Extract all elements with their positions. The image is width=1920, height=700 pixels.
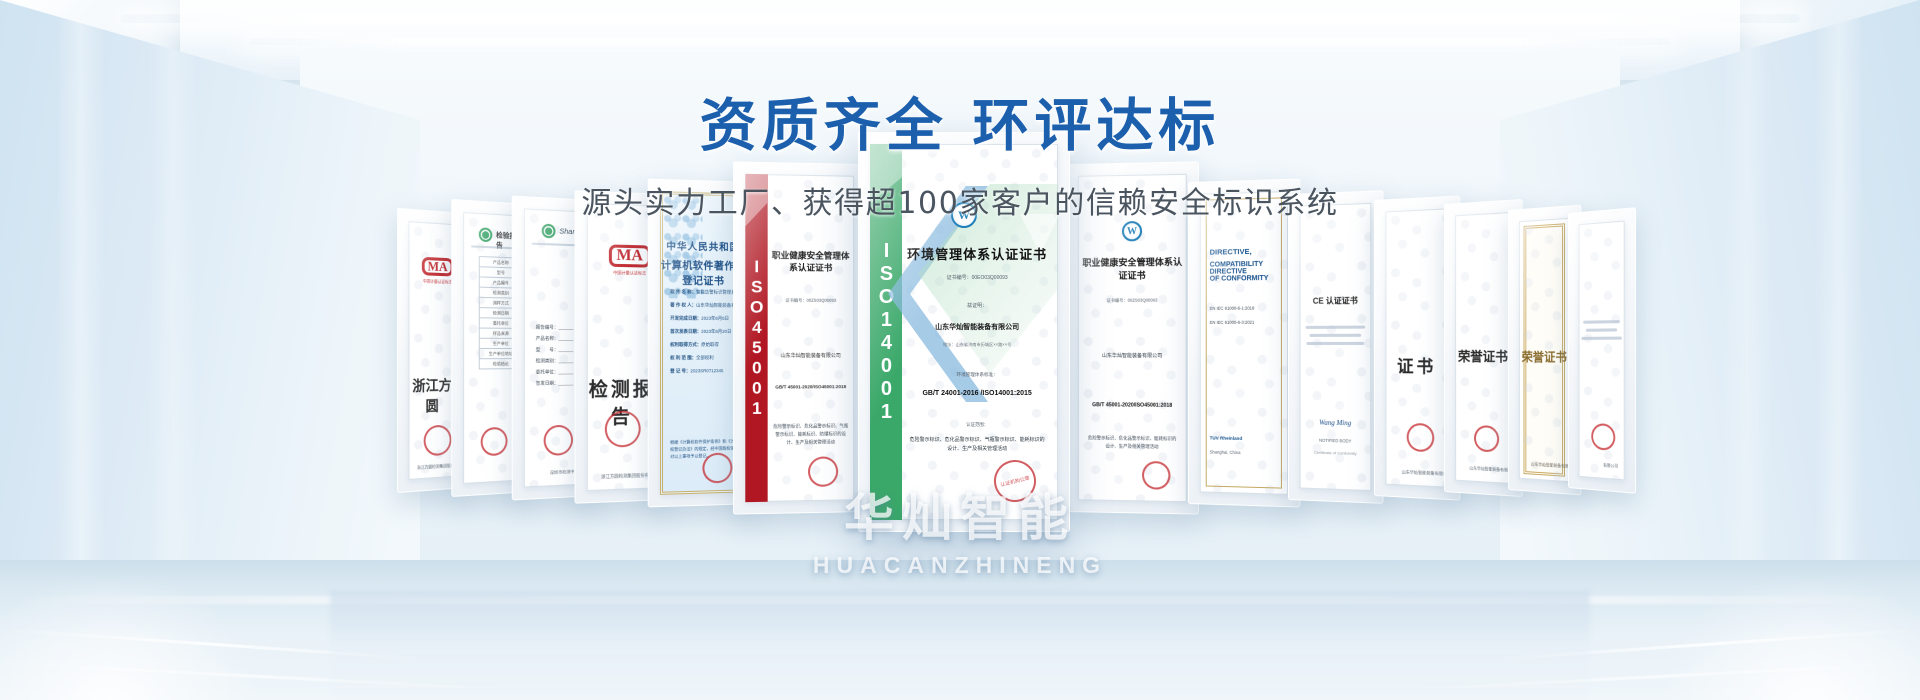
certificate-standard: GB/T 24001-2016 /ISO14001:2015 (902, 390, 1052, 397)
certificate-title-line3: OF CONFORMITY (1210, 275, 1269, 283)
certificate-title-line2: COMPATIBILITY DIRECTIVE (1210, 260, 1288, 275)
certificate-scope: 危险警示标识、危化品警示标识、气瓶警示标识、能耗标识、防爆标识的设计、生产及相关… (772, 422, 850, 447)
certificate-title: 职业健康安全管理体系认证证书 (1082, 255, 1182, 282)
certificate-title-line1: DIRECTIVE, (1210, 247, 1252, 257)
text-line (1307, 342, 1365, 345)
ma-stamp-icon: MA (609, 244, 651, 267)
certificate-footer: Shanghai, China (1210, 449, 1241, 455)
certificate-title: 环境管理体系认证证书 (902, 244, 1052, 263)
certificate-title: 证书 (1385, 352, 1448, 378)
certificate-paper: 荣誉证书 山东华灿智能装备有限公司 (1455, 212, 1511, 484)
banner-headings: 资质齐全 环评达标 源头实力工厂、获得超100家客户的信赖安全标识系统 (0, 96, 1920, 222)
page-title: 资质齐全 环评达标 (0, 96, 1920, 156)
certificate-standard-2: EN IEC 61000-6-3:2021 (1210, 319, 1288, 324)
certificate-paper: ISO45001 职业健康安全管理体系认证证书 证书编号：00ZS03Q0009… (745, 174, 854, 502)
certificate-paper: DIRECTIVE, COMPATIBILITY DIRECTIVE OF CO… (1200, 191, 1288, 495)
certificate-paper: MA 中国计量认证标志 检测报告 浙江方圆检测集团股份有限公司 (587, 203, 657, 491)
certificate-paper: ⬤ 检验报告 产品名称 型号 产品编号 检测类别 测样方式 检测日期 委托单位 … (463, 212, 519, 484)
iso-code-label: ISO14001 (874, 240, 897, 424)
certificate-banner: 资质齐全 环评达标 源头实力工厂、获得超100家客户的信赖安全标识系统 MA 中… (0, 0, 1920, 700)
certificate-paper: 有限公司 (1579, 221, 1625, 481)
ma-stamp-icon: MA (422, 257, 454, 277)
certification-mark-icon: ⬤ (542, 224, 556, 239)
text-line (1306, 326, 1366, 329)
iso-code-label: ISO45001 (746, 257, 766, 419)
certificate-title: CE 认证证书 (1300, 295, 1372, 307)
certificate-title: 浙江方圆 (409, 375, 456, 417)
certificate-company: 山东华灿智能装备有限公司 (769, 352, 851, 359)
certificate-frame[interactable]: 有限公司 (1568, 207, 1636, 494)
certificate-paper: MA 中国计量认证标志 浙江方圆 浙江方圆检测集团股份有限公司 (409, 221, 456, 480)
paper-watermark (1300, 203, 1372, 491)
certification-body-mark-icon: W (1122, 221, 1142, 241)
text-line (1581, 337, 1621, 340)
certificate-title: 荣誉证书 (1455, 346, 1511, 366)
certificate-scope: 危险警示标识、危化品警示标识、能耗标识的设计、生产及相关管理活动 (1087, 434, 1178, 451)
certificate-number: 证书编号：00EO03Q00093 (902, 274, 1052, 281)
certificate-scope-label: 认证范围： (902, 422, 1052, 428)
certificate-frame[interactable]: CE 认证证书 Wang Ming NOTIFIED BODY Certific… (1288, 190, 1383, 504)
certificate-issuer: TUV Rheinland (1210, 435, 1243, 441)
certificate-company: 山东华灿智能装备有限公司 (902, 322, 1052, 332)
certificate-scope: 危险警示标识、危化品警示标识、气瓶警示标识、能耗标识的设计、生产及相关管理活动 (908, 436, 1047, 454)
certificate-frame[interactable]: DIRECTIVE, COMPATIBILITY DIRECTIVE OF CO… (1188, 178, 1300, 507)
certificate-company: 山东华灿智能装备有限公司 (1082, 352, 1182, 359)
certificate-signature: Wang Ming (1300, 418, 1372, 428)
iso-side-bar: ISO45001 (745, 174, 767, 502)
certificate-standard-label: 环境管理体系标准： (902, 372, 1052, 378)
text-line (1586, 328, 1617, 331)
certificate-standard: EN IEC 61000-6-1:2019 (1210, 305, 1288, 311)
certificate-border (1206, 197, 1282, 488)
certificate-standard: GB/T 45001-2020/ISO45001:2018 (769, 384, 851, 389)
certificate-paper: W 职业健康安全管理体系认证证书 证书编号：00ZS03Q00093 山东华灿智… (1078, 174, 1187, 502)
certification-mark-icon: ⬤ (479, 227, 493, 242)
certificate-number: 证书编号：00ZS03Q00093 (769, 298, 851, 304)
text-line (1583, 320, 1620, 324)
certificate-title: 荣誉证书 (1519, 348, 1570, 366)
certificate-paper: 荣誉证书 山东华灿智能装备有限公司 (1519, 218, 1570, 482)
page-subtitle: 源头实力工厂、获得超100家客户的信赖安全标识系统 (0, 178, 1920, 222)
certificate-title: 职业健康安全管理体系认证证书 (769, 249, 851, 274)
certificate-standard: GB/T 45001-2020/ISO45001:2018 (1082, 402, 1182, 409)
certificate-paper: CE 认证证书 Wang Ming NOTIFIED BODY Certific… (1300, 203, 1372, 491)
certificate-company-label: 兹证明： (902, 302, 1052, 309)
certificate-address: 地址：山东省济南市历城区××路××号 (906, 342, 1049, 348)
text-line (1309, 334, 1361, 337)
certificate-paper: 证书 山东华灿智能装备有限公司 (1385, 208, 1448, 487)
certificate-number: 证书编号：00ZS03Q00093 (1082, 297, 1182, 303)
